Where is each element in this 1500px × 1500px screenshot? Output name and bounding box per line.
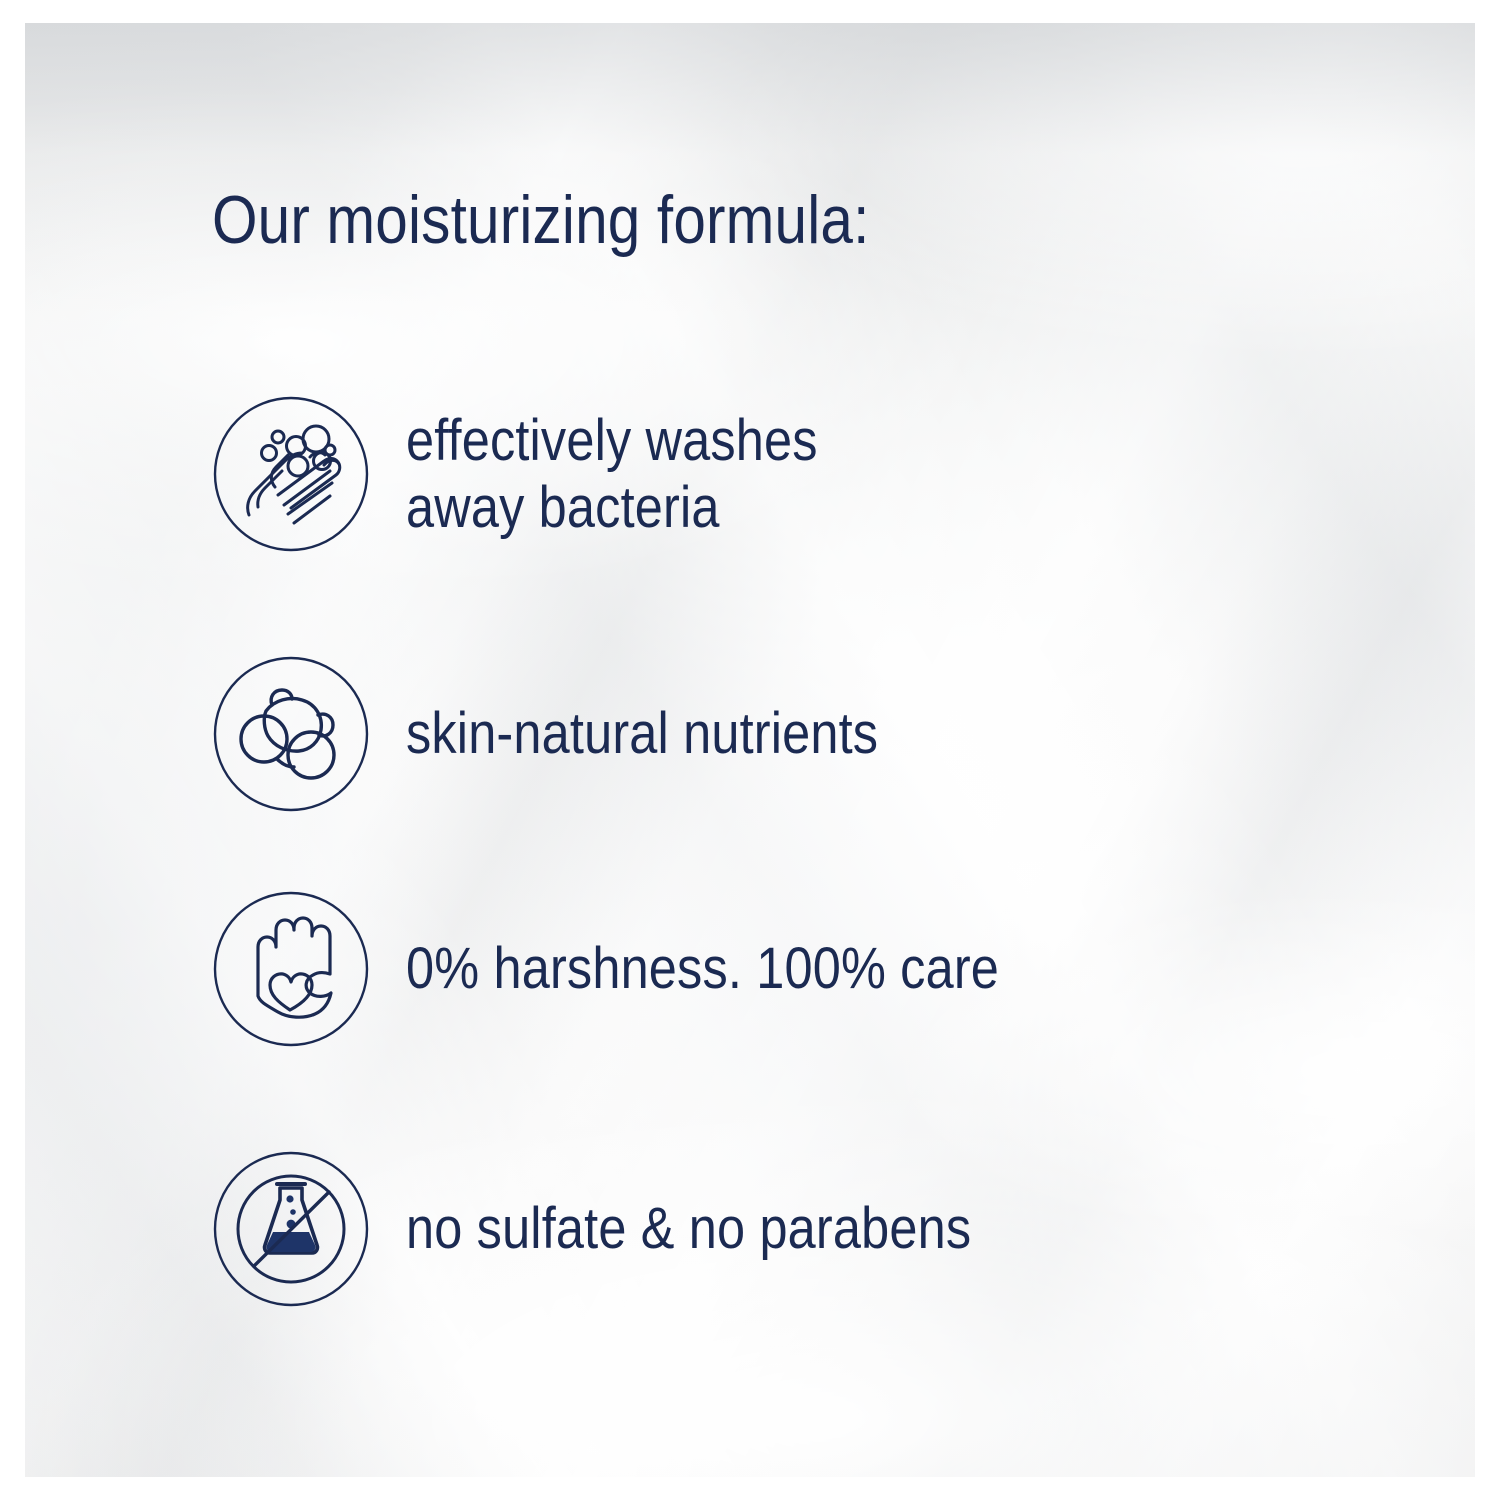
hands-washing-bubbles-icon bbox=[212, 395, 370, 553]
no-chemicals-flask-icon bbox=[212, 1150, 370, 1308]
feature-row: effectively washes away bacteria bbox=[212, 395, 1412, 553]
feature-row: skin-natural nutrients bbox=[212, 655, 1412, 813]
panel-content: Our moisturizing formula: bbox=[0, 0, 1500, 1500]
feature-label: effectively washes away bacteria bbox=[406, 407, 818, 542]
feature-row: 0% harshness. 100% care bbox=[212, 890, 1412, 1048]
feature-row: no sulfate & no parabens bbox=[212, 1150, 1412, 1308]
product-feature-panel: Our moisturizing formula: bbox=[0, 0, 1500, 1500]
page-title: Our moisturizing formula: bbox=[212, 186, 870, 254]
feature-label: skin-natural nutrients bbox=[406, 700, 878, 767]
feature-label: 0% harshness. 100% care bbox=[406, 935, 999, 1002]
feature-label: no sulfate & no parabens bbox=[406, 1195, 971, 1262]
hand-with-heart-icon bbox=[212, 890, 370, 1048]
nutrient-bubbles-icon bbox=[212, 655, 370, 813]
